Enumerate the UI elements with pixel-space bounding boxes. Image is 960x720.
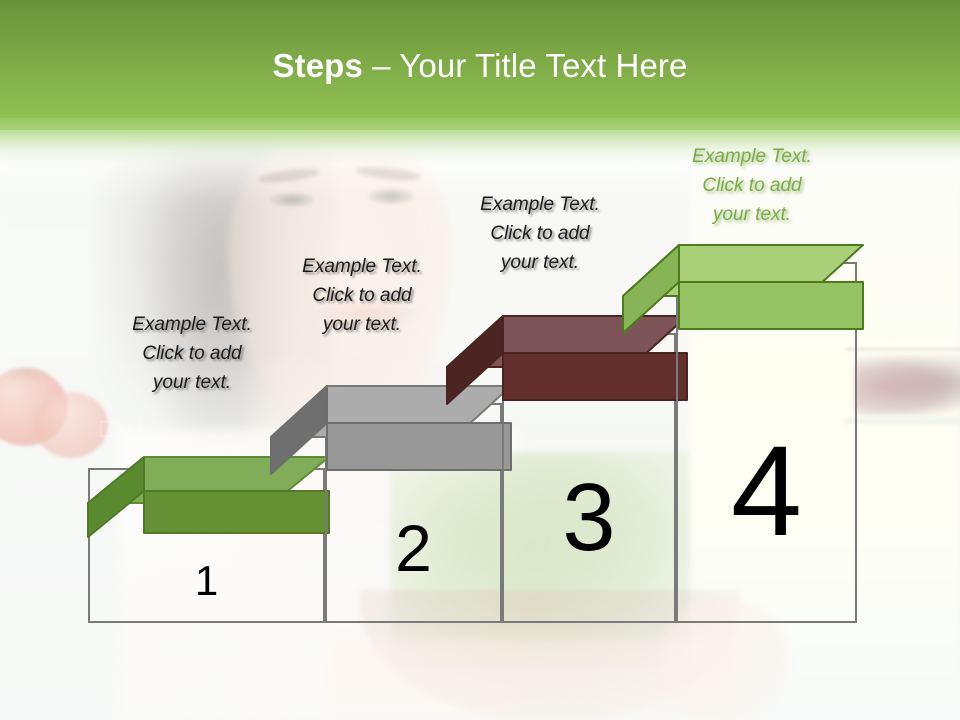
- step-2-block-side-face: [271, 386, 327, 474]
- step-4-caption[interactable]: Example Text. Click to add your text.: [652, 142, 852, 229]
- step-1-number: 1: [88, 560, 325, 602]
- slide-canvas: Steps – Your Title Text Here 1 2: [0, 0, 960, 720]
- step-1-block-side-face: [88, 457, 144, 537]
- step-1-block-front-face: [144, 491, 329, 533]
- page-title-bold: Steps: [273, 47, 363, 84]
- step-3-number: 3: [502, 470, 676, 566]
- step-2-caption[interactable]: Example Text. Click to add your text.: [262, 252, 462, 339]
- page-title-rest: – Your Title Text Here: [363, 47, 688, 84]
- step-2-block-front-face: [327, 423, 511, 470]
- step-3-block-front-face: [503, 353, 687, 400]
- page-title: Steps – Your Title Text Here: [0, 47, 960, 85]
- step-3-caption[interactable]: Example Text. Click to add your text.: [440, 190, 640, 277]
- step-4-block[interactable]: [615, 243, 865, 343]
- step-4-number: 4: [676, 428, 857, 556]
- step-4-block-front-face: [679, 282, 863, 329]
- step-2-number: 2: [325, 515, 502, 581]
